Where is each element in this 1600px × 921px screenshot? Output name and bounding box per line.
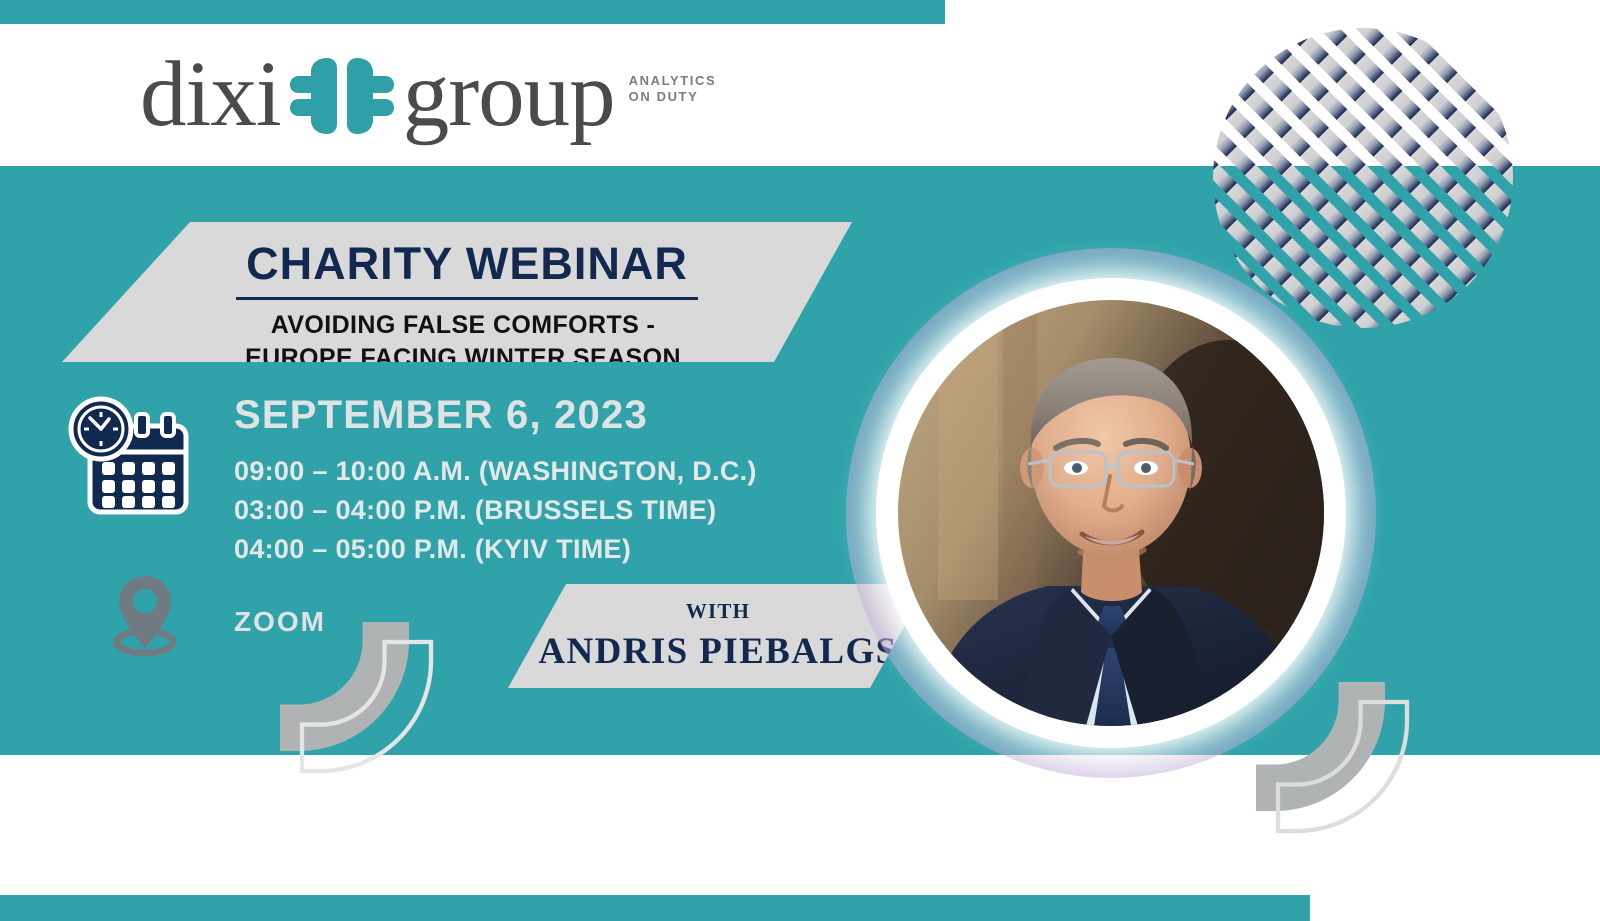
title-banner: CHARITY WEBINAR AVOIDING FALSE COMFORTS … [62,222,852,362]
brand-logo: dixi group ANALYTICS ON DUTY [140,45,716,145]
event-time-washington: 09:00 – 10:00 A.M. (WASHINGTON, D.C.) [234,452,757,491]
logo-tagline-line-1: ANALYTICS [629,73,717,88]
logo-tagline-line-2: ON DUTY [629,89,699,104]
platform-label: ZOOM [234,606,326,638]
striped-circle-decoration [1208,28,1518,328]
logo-word-dixi: dixi [140,51,281,139]
speaker-name: ANDRIS PIEBALGS [538,630,897,673]
page-subtitle-line-1: AVOIDING FALSE COMFORTS - [271,311,656,339]
logo-tagline: ANALYTICS ON DUTY [629,73,717,106]
calendar-clock-icon [62,390,190,516]
event-time-brussels: 03:00 – 04:00 P.M. (BRUSSELS TIME) [234,491,757,530]
event-times: 09:00 – 10:00 A.M. (WASHINGTON, D.C.) 03… [234,452,757,569]
puzzle-brain-mark-icon [287,52,397,138]
map-pin-icon [108,572,182,656]
event-time-kyiv: 04:00 – 05:00 P.M. (KYIV TIME) [234,530,757,569]
logo-word-group: group [403,51,615,139]
schedule-block: SEPTEMBER 6, 2023 09:00 – 10:00 A.M. (WA… [234,393,757,569]
event-date: SEPTEMBER 6, 2023 [234,393,757,438]
top-accent-bar [0,0,945,24]
speaker-with-label: WITH [686,599,750,624]
bottom-accent-bar [0,895,1310,921]
page-title: CHARITY WEBINAR [236,238,698,300]
quarter-arc-decoration-left [286,628,446,778]
avatar [898,300,1324,726]
